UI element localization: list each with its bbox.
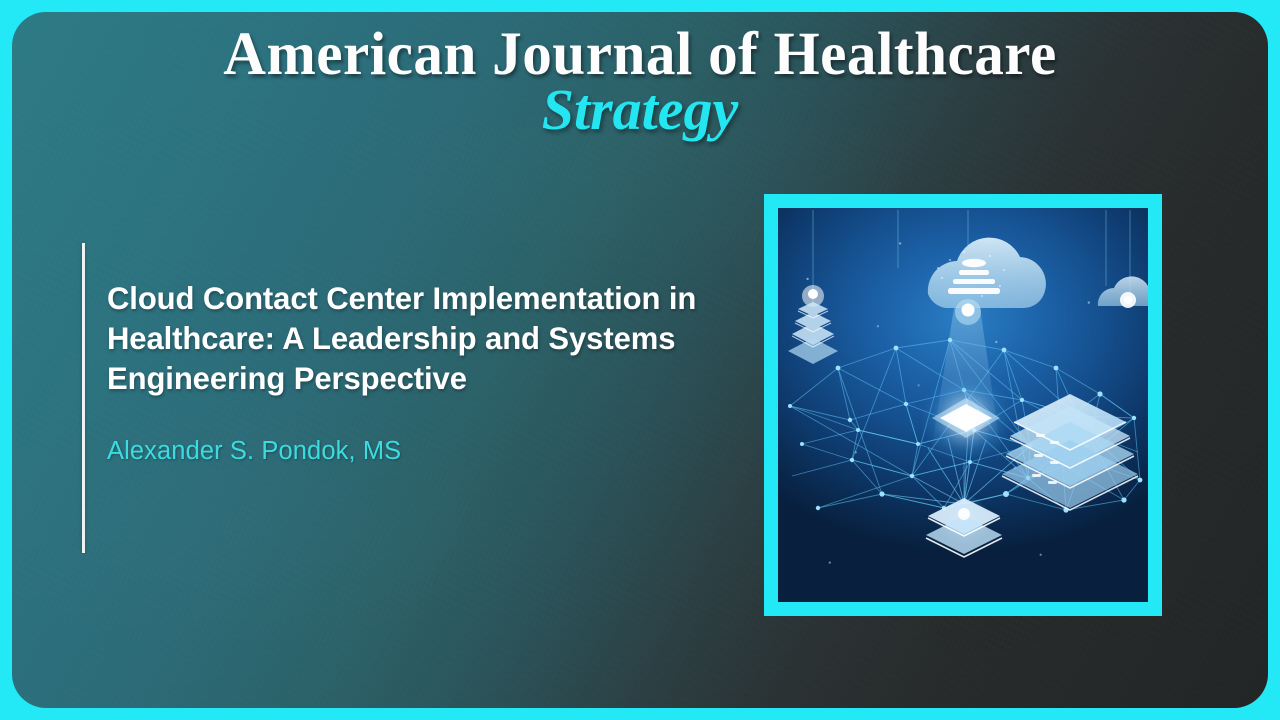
- slide-canvas: American Journal of Healthcare Strategy …: [12, 12, 1268, 708]
- base-platform-node: [926, 494, 1002, 557]
- cloud-icon-large-center: [928, 238, 1046, 325]
- journal-name-line1: American Journal of Healthcare: [31, 24, 1249, 85]
- journal-name-line2: Strategy: [12, 81, 1268, 139]
- article-author: Alexander S. Pondok, MS: [107, 435, 401, 467]
- cloud-icon-small-right: [1098, 276, 1148, 308]
- article-title: Cloud Contact Center Implementation in H…: [107, 278, 745, 398]
- server-stack-icon-left: [788, 285, 838, 364]
- accent-rule-divider: [82, 243, 85, 553]
- journal-masthead: American Journal of Healthcare Strategy: [12, 24, 1268, 139]
- slide-frame: American Journal of Healthcare Strategy …: [0, 0, 1280, 720]
- network-graphic: [778, 208, 1148, 602]
- article-text-block: Cloud Contact Center Implementation in H…: [82, 243, 762, 553]
- server-stack-icon-right: [1002, 394, 1138, 510]
- figure-frame: [764, 194, 1162, 616]
- cloud-network-illustration: [778, 208, 1148, 602]
